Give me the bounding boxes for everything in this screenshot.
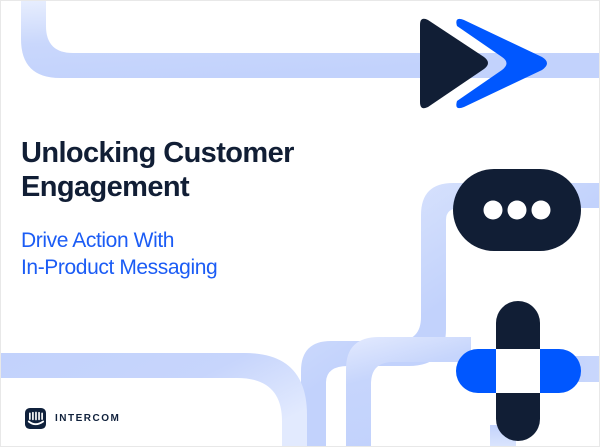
chat-bubble-ellipsis-icon bbox=[453, 169, 581, 251]
subhead-line-2: In-Product Messaging bbox=[21, 256, 217, 279]
rounded-pipe-bottom-center bbox=[346, 337, 471, 447]
logo-bar-4 bbox=[38, 412, 40, 420]
chat-dot-2 bbox=[508, 201, 527, 220]
rounded-pipe-bottom-left bbox=[1, 353, 307, 447]
slide-canvas: Unlocking Customer Engagement Drive Acti… bbox=[0, 0, 600, 447]
logo-bar-1 bbox=[29, 413, 31, 420]
page-title: Unlocking Customer Engagement bbox=[21, 137, 351, 205]
plus-center-square bbox=[496, 349, 540, 393]
play-triangle-icon bbox=[406, 14, 556, 114]
logo-bar-2 bbox=[32, 412, 34, 420]
plus-cross-icon bbox=[456, 301, 581, 441]
headline-line-1: Unlocking Customer bbox=[21, 137, 294, 169]
logo-bar-3 bbox=[35, 412, 37, 421]
copy-block: Unlocking Customer Engagement Drive Acti… bbox=[21, 137, 351, 281]
headline-line-2: Engagement bbox=[21, 171, 189, 203]
chat-dot-1 bbox=[484, 201, 503, 220]
logo-bar-5 bbox=[41, 413, 43, 420]
brand-logo-lockup: INTERCOM bbox=[25, 408, 120, 429]
page-subtitle: Drive Action With In-Product Messaging bbox=[21, 227, 351, 282]
brand-name: INTERCOM bbox=[55, 413, 120, 424]
intercom-logo-icon bbox=[25, 408, 46, 429]
chat-dot-3 bbox=[532, 201, 551, 220]
subhead-line-1: Drive Action With bbox=[21, 229, 174, 252]
